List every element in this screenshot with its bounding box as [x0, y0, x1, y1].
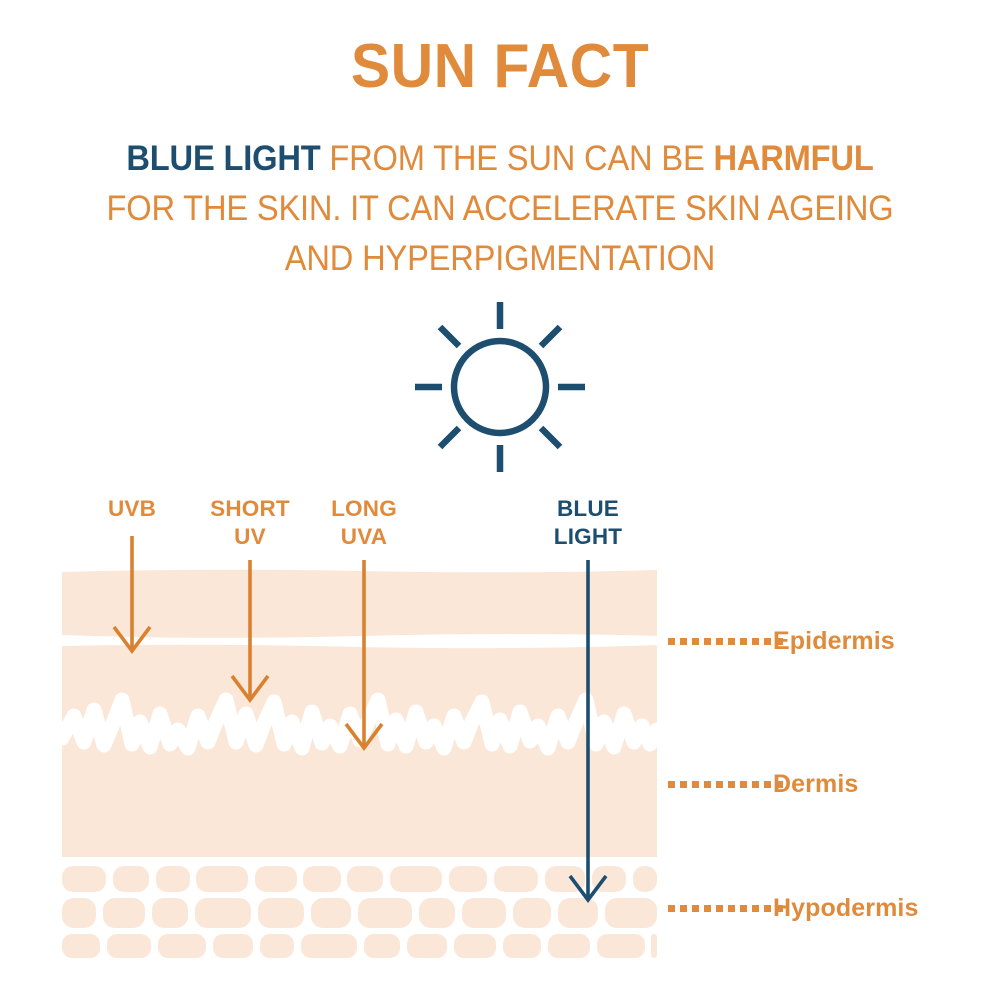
ray-label-uvb: UVB	[72, 495, 192, 523]
subtitle-line2: FOR THE SKIN. IT CAN ACCELERATE SKIN AGE…	[106, 188, 893, 228]
dermis-wave-divider	[62, 700, 657, 748]
subtitle-blue-light: BLUE LIGHT	[126, 138, 320, 178]
arrow-uvb	[114, 536, 150, 651]
subtitle-line1-mid: FROM THE SUN CAN BE	[320, 138, 713, 178]
leader-hypodermis	[668, 905, 788, 912]
page-title: SUN FACT	[25, 36, 975, 98]
arrow-short-uv	[232, 560, 268, 700]
epidermis-layer	[62, 570, 657, 638]
leader-epidermis	[668, 638, 788, 645]
ray-label-short-uv: SHORT UV	[190, 495, 310, 551]
infographic-canvas: SUN FACT BLUE LIGHT FROM THE SUN CAN BE …	[0, 0, 1000, 1000]
subtitle-line3: AND HYPERPIGMENTATION	[285, 238, 715, 278]
arrow-blue-light	[570, 560, 606, 900]
layer-label-dermis: Dermis	[773, 770, 858, 799]
ray-label-blue-light: BLUE LIGHT	[528, 495, 648, 551]
subtitle-block: BLUE LIGHT FROM THE SUN CAN BE HARMFUL F…	[86, 133, 914, 283]
arrow-long-uva	[346, 560, 382, 748]
ray-label-long-uva: LONG UVA	[304, 495, 424, 551]
dermis-layer	[62, 645, 657, 857]
leader-dermis	[668, 781, 788, 788]
layer-label-hypodermis: Hypodermis	[773, 894, 918, 923]
layer-label-epidermis: Epidermis	[773, 627, 895, 656]
subtitle-harmful: HARMFUL	[713, 138, 873, 178]
hypodermis-fat-cells	[62, 866, 657, 958]
sun-icon	[413, 300, 587, 474]
